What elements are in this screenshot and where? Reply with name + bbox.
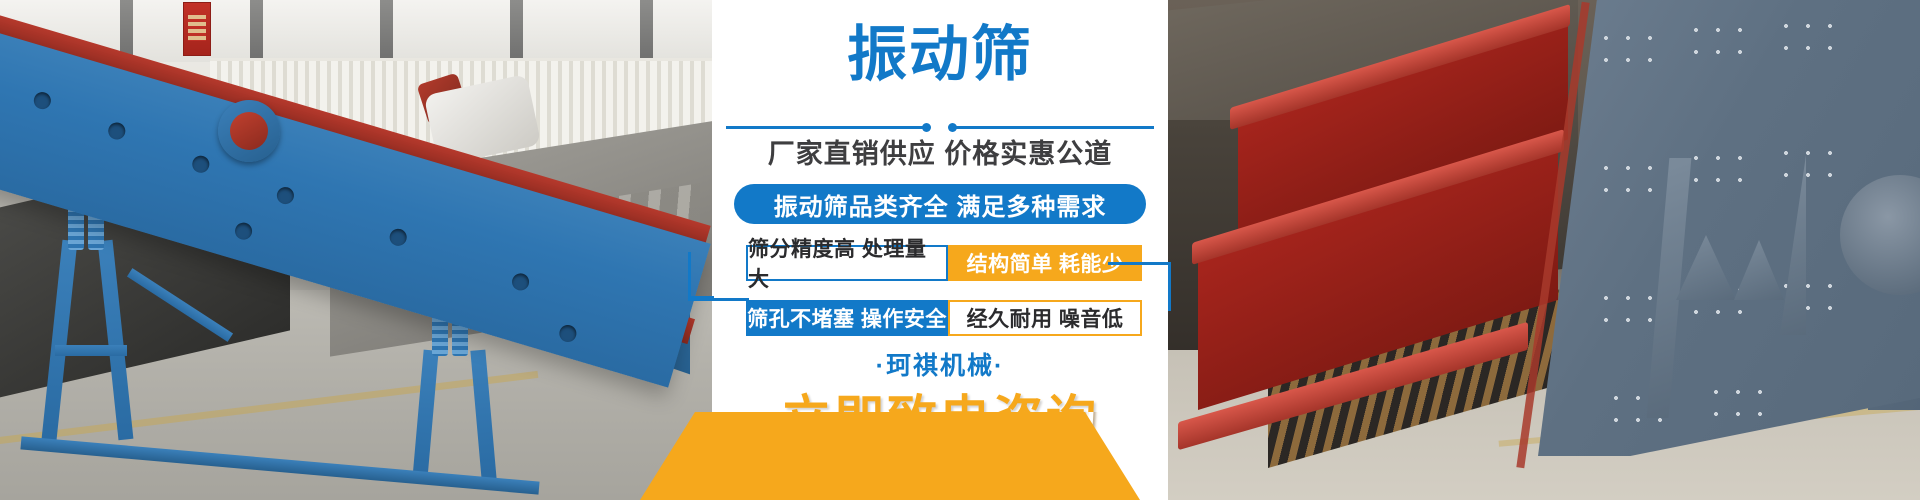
brand-name: ·珂祺机械· bbox=[712, 350, 1168, 382]
divider-gap bbox=[928, 124, 950, 131]
feature-row-2: 筛孔不堵塞 操作安全 经久耐用 噪音低 bbox=[746, 300, 1142, 336]
beam bbox=[380, 0, 393, 62]
connector-stub-left bbox=[688, 296, 714, 299]
leg-brace bbox=[55, 345, 127, 356]
product-photo-right bbox=[1168, 0, 1920, 500]
divider-dot-left bbox=[922, 123, 931, 132]
divider-dot-right bbox=[948, 123, 957, 132]
subtitle: 厂家直销供应 价格实惠公道 bbox=[712, 136, 1168, 172]
eccentric-drum bbox=[218, 100, 280, 162]
connector-stub-right bbox=[1142, 262, 1168, 265]
highlight-pill: 振动筛品类齐全 满足多种需求 bbox=[734, 184, 1146, 224]
promo-banner: 振动筛 厂家直销供应 价格实惠公道 振动筛品类齐全 满足多种需求 筛分精度高 处… bbox=[0, 0, 1920, 500]
product-photo-left bbox=[0, 0, 720, 500]
feature-chip-2a: 筛孔不堵塞 操作安全 bbox=[746, 300, 948, 336]
feature-chip-1a: 筛分精度高 处理量大 bbox=[746, 245, 948, 281]
connector-bracket-right bbox=[1108, 262, 1171, 311]
page-title: 振动筛 bbox=[712, 22, 1168, 88]
beam bbox=[250, 0, 263, 62]
beam bbox=[510, 0, 523, 62]
feature-row-1: 筛分精度高 处理量大 结构简单 耗能少 bbox=[746, 245, 1142, 281]
title-divider bbox=[726, 126, 1154, 129]
connector-bracket-left bbox=[688, 252, 749, 301]
orange-trapezoid-banner bbox=[640, 412, 1140, 500]
beam bbox=[640, 0, 653, 62]
wall-sign bbox=[183, 2, 211, 56]
